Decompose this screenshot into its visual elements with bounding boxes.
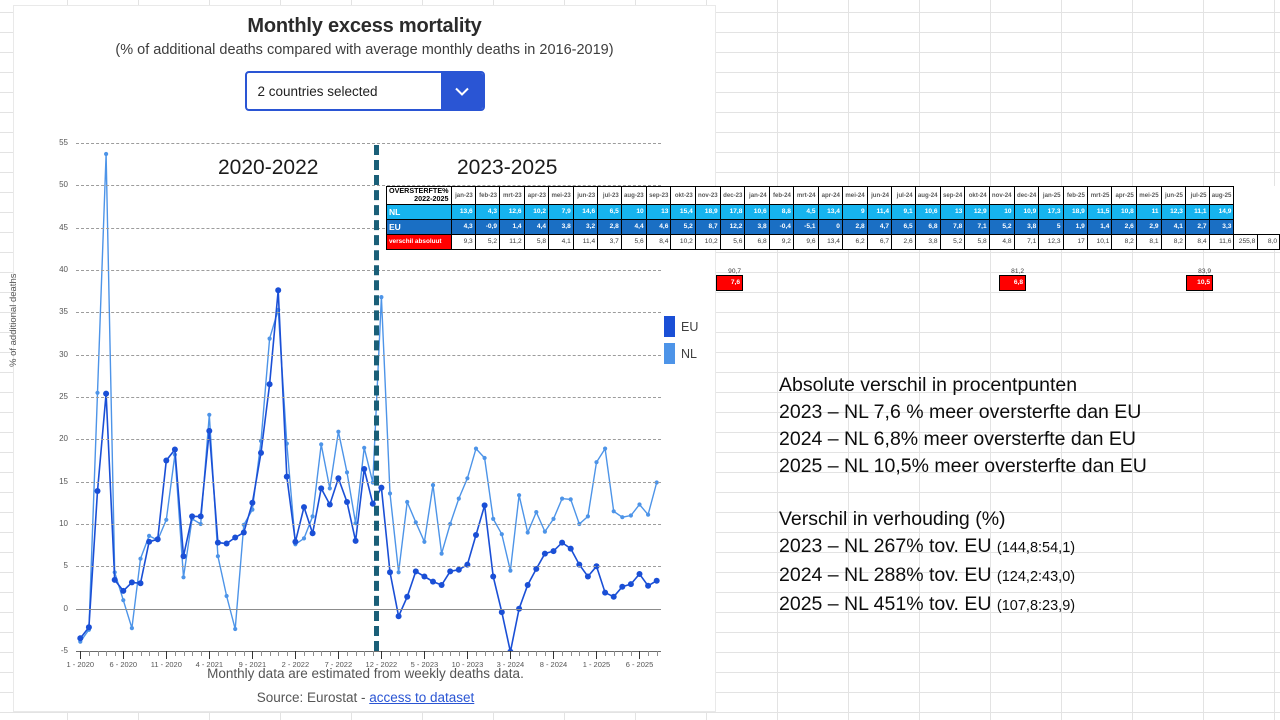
table-month-header: feb-25	[1063, 187, 1087, 205]
series-point-eu	[645, 583, 651, 589]
series-point-nl	[345, 470, 349, 474]
x-tick	[381, 651, 382, 659]
series-point-eu	[103, 391, 109, 397]
series-point-eu	[249, 500, 255, 506]
x-tick	[510, 651, 511, 659]
x-tick	[252, 651, 253, 659]
table-header-line2: 2022-2025	[389, 195, 449, 203]
series-point-eu	[292, 539, 298, 545]
table-cell: 10,8	[1112, 204, 1136, 219]
series-point-eu	[138, 580, 144, 586]
table-month-header: aug-24	[915, 187, 940, 205]
series-point-nl	[216, 554, 220, 558]
table-row-label: NL	[387, 204, 452, 219]
table-row: EU4,3-0,91,44,43,83,22,84,44,65,28,712,2…	[387, 219, 1280, 234]
table-cell: 12,6	[500, 204, 525, 219]
summary-ratio-2023-paren: (144,8:54,1)	[997, 540, 1075, 556]
x-tick	[424, 651, 425, 659]
series-point-eu	[155, 536, 161, 542]
series-point-eu	[611, 594, 617, 600]
table-cell: 1,9	[1063, 219, 1087, 234]
table-cell-total-diff: 8,0	[1258, 234, 1280, 249]
table-cell: 10,6	[745, 204, 769, 219]
series-point-nl	[164, 518, 168, 522]
y-tick-label: 25	[44, 392, 68, 401]
series-point-nl	[500, 532, 504, 536]
table-row-label: EU	[387, 219, 452, 234]
x-tick	[313, 651, 314, 656]
table-month-header: nov-23	[695, 187, 720, 205]
period-label-left: 2020-2022	[218, 156, 318, 180]
series-point-nl	[138, 557, 142, 561]
table-cell: 5,2	[989, 219, 1014, 234]
table-cell: 17,8	[720, 204, 745, 219]
series-point-nl	[629, 513, 633, 517]
table-cell-spacer	[1234, 204, 1258, 219]
series-point-eu	[120, 588, 126, 594]
table-month-header: okt-23	[671, 187, 695, 205]
table-cell: 5,6	[621, 234, 646, 249]
x-tick	[553, 651, 554, 659]
table-month-header: mei-25	[1136, 187, 1161, 205]
summary-ratio-2023: 2023 – NL 267% tov. EU (144,8:54,1)	[779, 533, 1147, 562]
table-month-header: mrt-23	[500, 187, 525, 205]
series-point-eu	[473, 532, 479, 538]
table-cell: 10,1	[1087, 234, 1112, 249]
x-tick	[485, 651, 486, 656]
table-cell: 14,9	[1209, 204, 1234, 219]
annotation-2025: 83,9 10,5	[1186, 268, 1213, 291]
x-tick	[450, 651, 451, 656]
x-tick	[407, 651, 408, 656]
table-cell: 8,8	[769, 204, 793, 219]
table-cell: 7,9	[549, 204, 574, 219]
x-tick	[476, 651, 477, 656]
series-point-eu	[215, 540, 221, 546]
table-cell: 9	[842, 204, 867, 219]
table-month-header: jan-24	[745, 187, 769, 205]
series-point-nl	[474, 447, 478, 451]
x-tick	[141, 651, 142, 656]
table-cell: -0,4	[769, 219, 793, 234]
gridline	[76, 566, 661, 567]
series-point-nl	[388, 491, 392, 495]
table-cell: 3,8	[549, 219, 574, 234]
x-tick	[545, 651, 546, 656]
table-month-header: mrt-25	[1087, 187, 1112, 205]
annotation-2024-ratio: 81,2	[999, 268, 1026, 275]
table-cell: 10	[621, 204, 646, 219]
series-point-eu	[456, 567, 462, 573]
chart-legend: EU NL	[664, 316, 698, 370]
gridline	[76, 482, 661, 483]
summary-ratio-2023-main: 2023 – NL 267% tov. EU	[779, 535, 997, 557]
y-tick-label: -5	[44, 646, 68, 655]
table-cell: 9,1	[892, 204, 916, 219]
series-point-eu	[654, 578, 660, 584]
eurostat-chart-card: Monthly excess mortality (% of additiona…	[13, 5, 716, 712]
chart-title: Monthly excess mortality	[14, 15, 715, 38]
x-tick	[536, 651, 537, 656]
table-cell: 9,2	[769, 234, 793, 249]
y-axis-label: % of additional deaths	[8, 274, 19, 367]
series-point-eu	[447, 568, 453, 574]
x-tick	[106, 651, 107, 656]
x-tick	[493, 651, 494, 656]
table-cell: 4,4	[621, 219, 646, 234]
x-tick	[459, 651, 460, 656]
table-month-header: jun-23	[573, 187, 597, 205]
series-point-nl	[104, 152, 108, 156]
series-point-eu	[198, 513, 204, 519]
y-tick-label: 15	[44, 477, 68, 486]
table-cell: 11,1	[1185, 204, 1209, 219]
series-point-nl	[431, 483, 435, 487]
series-point-eu	[430, 579, 436, 585]
table-cell: 8,1	[1136, 234, 1161, 249]
series-point-nl	[311, 514, 315, 518]
series-point-nl	[526, 530, 530, 534]
table-cell: 10,9	[1014, 204, 1039, 219]
summary-ratio-2024-main: 2024 – NL 288% tov. EU	[779, 564, 997, 586]
series-point-nl	[483, 456, 487, 460]
table-cell: 8,2	[1112, 234, 1136, 249]
series-line-eu	[80, 290, 656, 651]
chart-footnote: Monthly data are estimated from weekly d…	[14, 666, 717, 681]
x-tick	[588, 651, 589, 656]
annotation-2024-diff: 6,8	[999, 275, 1026, 291]
table-cell: 1,4	[500, 219, 525, 234]
table-cell-spacer	[1258, 219, 1280, 234]
series-point-nl	[225, 594, 229, 598]
table-cell: 9,6	[793, 234, 818, 249]
table-cell: 6,5	[598, 204, 622, 219]
table-cell: 4,8	[989, 234, 1014, 249]
y-tick-label: 35	[44, 307, 68, 316]
table-month-header: jul-23	[598, 187, 622, 205]
series-point-eu	[568, 546, 574, 552]
series-point-eu	[224, 541, 230, 547]
series-point-nl	[405, 500, 409, 504]
chart-subtitle: (% of additional deaths compared with av…	[14, 42, 715, 58]
x-tick	[338, 651, 339, 659]
x-tick	[364, 651, 365, 656]
series-point-eu	[602, 590, 608, 596]
table-cell: 5	[1039, 219, 1063, 234]
gridline	[76, 143, 661, 144]
x-tick	[571, 651, 572, 656]
annotation-2025-diff: 10,5	[1186, 275, 1213, 291]
slide-root: Monthly excess mortality (% of additiona…	[0, 0, 1280, 720]
table-month-header: dec-23	[720, 187, 745, 205]
annotation-2025-ratio: 83,9	[1186, 268, 1213, 275]
series-point-eu	[413, 568, 419, 574]
table-month-header: aug-25	[1209, 187, 1234, 205]
table-cell: 8,4	[1185, 234, 1209, 249]
series-point-eu	[318, 485, 324, 491]
table-cell: 2,8	[842, 219, 867, 234]
series-point-nl	[336, 430, 340, 434]
period-divider	[374, 145, 379, 651]
gridline	[76, 439, 661, 440]
table-cell: -0,9	[475, 219, 499, 234]
legend-label-eu: EU	[681, 320, 698, 334]
table-cell: 18,9	[1063, 204, 1087, 219]
y-tick-label: 5	[44, 561, 68, 570]
series-point-eu	[206, 428, 212, 434]
x-tick	[502, 651, 503, 656]
x-tick	[562, 651, 563, 656]
x-tick	[132, 651, 133, 656]
table-cell: 3,8	[745, 219, 769, 234]
summary-ratio-2025-main: 2025 – NL 451% tov. EU	[779, 593, 997, 615]
series-point-eu	[404, 594, 410, 600]
table-cell: 12,3	[1161, 204, 1185, 219]
table-header-spacer	[1234, 187, 1258, 205]
summary-absolute-2025: 2025 – NL 10,5% meer oversterfte dan EU	[779, 453, 1147, 480]
series-point-eu	[172, 447, 178, 453]
table-month-header: jun-24	[867, 187, 891, 205]
annotation-2024: 81,2 6,8	[999, 268, 1026, 291]
table-cell: 5,8	[965, 234, 989, 249]
series-point-eu	[387, 569, 393, 575]
series-point-nl	[319, 442, 323, 446]
table-cell: 4,3	[451, 219, 475, 234]
legend-label-nl: NL	[681, 347, 697, 361]
table-cell: 6,7	[867, 234, 891, 249]
summary-absolute-2023: 2023 – NL 7,6 % meer oversterfte dan EU	[779, 399, 1147, 426]
table-cell: 12,3	[1039, 234, 1063, 249]
table-month-header: sep-23	[646, 187, 671, 205]
table-cell: 2,6	[1112, 219, 1136, 234]
x-tick	[519, 651, 520, 656]
legend-swatch-nl	[664, 343, 675, 364]
table-month-header: jul-25	[1185, 187, 1209, 205]
table-month-header: aug-23	[621, 187, 646, 205]
series-point-nl	[457, 497, 461, 501]
series-point-nl	[328, 486, 332, 490]
series-point-nl	[147, 534, 151, 538]
series-point-nl	[233, 627, 237, 631]
series-point-nl	[440, 552, 444, 556]
x-tick	[149, 651, 150, 656]
series-point-nl	[268, 337, 272, 341]
series-point-eu	[284, 474, 290, 480]
series-point-nl	[543, 530, 547, 534]
table-cell: 10,2	[695, 234, 720, 249]
y-tick-label: 20	[44, 434, 68, 443]
series-point-nl	[551, 517, 555, 521]
series-point-eu	[163, 458, 169, 464]
table-cell: 13,4	[818, 234, 842, 249]
table-cell: 9,3	[451, 234, 475, 249]
gridline	[76, 355, 661, 356]
table-month-header: jun-25	[1161, 187, 1185, 205]
series-point-nl	[560, 497, 564, 501]
source-link[interactable]: access to dataset	[369, 690, 474, 705]
chevron-down-icon[interactable]	[441, 73, 483, 109]
series-point-eu	[112, 577, 118, 583]
x-tick	[227, 651, 228, 656]
series-point-eu	[525, 582, 531, 588]
series-point-nl	[637, 502, 641, 506]
table-cell: 7,1	[965, 219, 989, 234]
table-cell: 7,8	[940, 219, 965, 234]
x-tick	[209, 651, 210, 659]
gridline	[76, 270, 661, 271]
x-tick	[235, 651, 236, 656]
table-cell: 4,3	[475, 204, 499, 219]
table-cell: 6,8	[915, 219, 940, 234]
table-month-header: feb-23	[475, 187, 499, 205]
table-cell: 5,2	[475, 234, 499, 249]
series-point-eu	[275, 287, 281, 293]
x-tick	[442, 651, 443, 656]
table-cell: 10,2	[524, 204, 548, 219]
series-point-eu	[439, 582, 445, 588]
country-select-dropdown[interactable]: 2 countries selected	[245, 71, 485, 111]
source-prefix: Source: Eurostat -	[257, 690, 370, 705]
table-cell: 3,3	[1209, 219, 1234, 234]
table-cell: 2,9	[1136, 219, 1161, 234]
summary-ratio-2025: 2025 – NL 451% tov. EU (107,8:23,9)	[779, 591, 1147, 620]
table-cell: 4,1	[1161, 219, 1185, 234]
table-cell: 6,5	[892, 219, 916, 234]
table-cell: 7,1	[1014, 234, 1039, 249]
x-tick	[528, 651, 529, 656]
table-month-header: jan-23	[451, 187, 475, 205]
x-tick	[330, 651, 331, 656]
series-point-nl	[207, 413, 211, 417]
table-cell: 6,8	[745, 234, 769, 249]
table-month-header: jul-24	[892, 187, 916, 205]
table-cell-total-ratio: 255,8	[1234, 234, 1258, 249]
series-point-eu	[499, 609, 505, 615]
series-point-eu	[353, 538, 359, 544]
y-tick-label: 30	[44, 350, 68, 359]
x-tick	[648, 651, 649, 656]
y-tick-label: 10	[44, 519, 68, 528]
series-point-nl	[130, 626, 134, 630]
x-tick	[639, 651, 640, 659]
country-select-label: 2 countries selected	[247, 73, 441, 109]
table-month-header: apr-25	[1112, 187, 1136, 205]
x-tick	[614, 651, 615, 656]
series-point-nl	[181, 575, 185, 579]
table-row: NL13,64,312,610,27,914,66,5101315,418,91…	[387, 204, 1280, 219]
table-cell: 5,6	[720, 234, 745, 249]
table-cell: -5,1	[793, 219, 818, 234]
x-tick	[201, 651, 202, 656]
table-cell: 10,6	[915, 204, 940, 219]
table-cell: 4,4	[524, 219, 548, 234]
x-tick	[467, 651, 468, 659]
series-point-eu	[95, 488, 101, 494]
zero-line	[76, 609, 661, 610]
summary-spacer	[779, 480, 1147, 506]
table-month-header: feb-24	[769, 187, 793, 205]
table-cell: 10,2	[671, 234, 695, 249]
summary-ratio-2025-paren: (107,8:23,9)	[997, 598, 1075, 614]
table-cell: 3,8	[915, 234, 940, 249]
x-tick	[278, 651, 279, 656]
series-point-nl	[594, 460, 598, 464]
table-cell: 13,6	[451, 204, 475, 219]
summary-text-block: Absolute verschil in procentpunten 2023 …	[779, 372, 1147, 620]
annotation-2023-diff: 7,6	[716, 275, 743, 291]
series-point-eu	[327, 502, 333, 508]
x-tick	[184, 651, 185, 656]
chart-source: Source: Eurostat - access to dataset	[14, 690, 717, 705]
summary-absolute-2024: 2024 – NL 6,8% meer oversterfte dan EU	[779, 426, 1147, 453]
table-cell: 13,4	[818, 204, 842, 219]
table-cell: 6,2	[842, 234, 867, 249]
x-tick	[579, 651, 580, 656]
x-tick	[287, 651, 288, 656]
table-cell: 5,2	[940, 234, 965, 249]
table-cell: 13	[940, 204, 965, 219]
table-cell: 15,4	[671, 204, 695, 219]
series-point-nl	[603, 447, 607, 451]
series-point-nl	[534, 510, 538, 514]
period-label-right: 2023-2025	[457, 156, 557, 180]
series-point-nl	[620, 515, 624, 519]
table-cell: 8,7	[695, 219, 720, 234]
table-cell: 17	[1063, 234, 1087, 249]
table-month-header: jan-25	[1039, 187, 1063, 205]
summary-heading-absolute: Absolute verschil in procentpunten	[779, 372, 1147, 399]
series-point-eu	[482, 502, 488, 508]
y-tick-label: 45	[44, 223, 68, 232]
series-point-eu	[310, 530, 316, 536]
x-tick	[89, 651, 90, 656]
table-cell: 0	[818, 219, 842, 234]
series-point-eu	[344, 499, 350, 505]
series-point-nl	[465, 476, 469, 480]
series-point-nl	[491, 517, 495, 521]
series-point-eu	[619, 584, 625, 590]
table-cell: 4,1	[549, 234, 574, 249]
series-point-eu	[86, 624, 92, 630]
table-cell: 8,4	[646, 234, 671, 249]
table-cell: 17,3	[1039, 204, 1063, 219]
table-month-header: okt-24	[965, 187, 989, 205]
series-point-eu	[189, 513, 195, 519]
series-point-nl	[121, 598, 125, 602]
table-cell: 3,7	[598, 234, 622, 249]
x-tick	[657, 651, 658, 656]
gridline	[76, 312, 661, 313]
x-tick	[175, 651, 176, 656]
table-cell: 11	[1136, 204, 1161, 219]
x-tick	[80, 651, 81, 659]
x-tick	[596, 651, 597, 659]
legend-swatch-eu	[664, 316, 675, 337]
table-cell: 11,4	[867, 204, 891, 219]
x-tick	[356, 651, 357, 656]
series-point-nl	[569, 497, 573, 501]
series-point-eu	[542, 551, 548, 557]
x-tick	[605, 651, 606, 656]
table-month-header: nov-24	[989, 187, 1014, 205]
gridline	[76, 524, 661, 525]
table-month-header: sep-24	[940, 187, 965, 205]
series-point-nl	[362, 446, 366, 450]
table-cell: 14,6	[573, 204, 597, 219]
series-point-eu	[378, 485, 384, 491]
x-tick	[347, 651, 348, 656]
legend-item-nl: NL	[664, 343, 698, 364]
